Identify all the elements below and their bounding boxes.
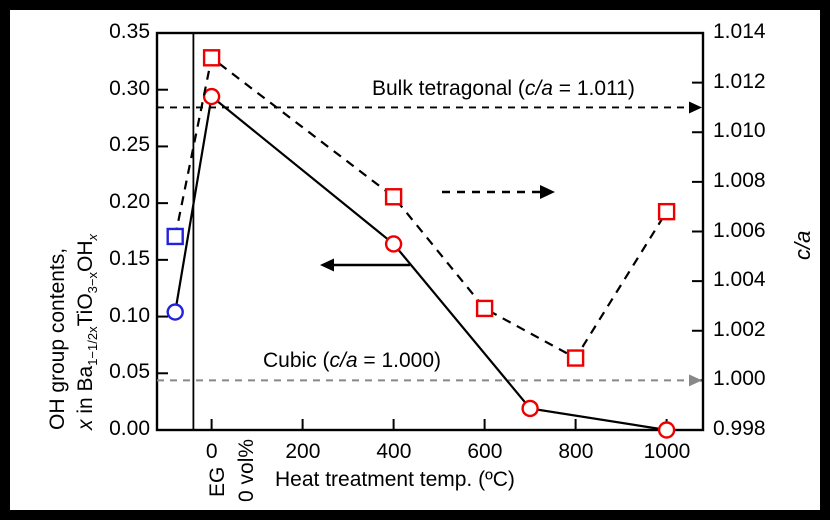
data-point-square — [168, 229, 183, 244]
data-point-circle — [204, 89, 219, 104]
data-point-square — [204, 50, 219, 65]
series-line-ca-ratio — [175, 58, 666, 358]
right-axis-tick-label: 1.000 — [713, 367, 766, 391]
right-axis-tick-label: 1.004 — [713, 268, 766, 292]
bulk-tetragonal-label-prefix: Bulk tetragonal ( — [372, 77, 525, 100]
left-axis-tick-label: 0.10 — [109, 304, 150, 328]
left-axis-tick-label: 0.30 — [109, 77, 150, 101]
data-point-square — [477, 301, 492, 316]
x-axis-tick-label: 600 — [467, 440, 502, 464]
cubic-label-italic: c/a — [330, 349, 358, 372]
y-axis-left-sub2: 3−x — [85, 272, 100, 293]
data-point-square — [568, 351, 583, 366]
x-axis-tick-label: 200 — [285, 440, 320, 464]
data-point-circle — [168, 305, 183, 320]
x-axis-title: Heat treatment temp. (ºC) — [275, 468, 515, 492]
left-axis-pointer-arrow — [320, 259, 334, 272]
reference-lines-layer — [157, 101, 702, 386]
cubic-label-suffix: = 1.000) — [358, 349, 441, 372]
data-point-circle — [523, 401, 538, 416]
right-axis-pointer-arrow — [540, 185, 555, 199]
cubic-label-prefix: Cubic ( — [263, 349, 330, 372]
y-axis-left-formula-in: in Ba — [74, 366, 97, 420]
y-axis-left-formula-x: x — [74, 420, 97, 431]
right-axis-tick-label: 1.014 — [713, 20, 766, 44]
data-series-layer — [168, 50, 674, 437]
y-axis-left-mid: TiO — [74, 293, 97, 326]
y-axis-left-sub3: x — [85, 234, 100, 241]
left-axis-tick-label: 0.35 — [109, 20, 150, 44]
right-axis-tick-label: 1.002 — [713, 318, 766, 342]
cubic-label: Cubic (c/a = 1.000) — [263, 349, 441, 373]
left-axis-tick-label: 0.20 — [109, 190, 150, 214]
chart-stage: 0.000.050.100.150.200.250.300.35 0.9981.… — [10, 10, 820, 510]
left-axis-tick-label: 0.00 — [109, 417, 150, 441]
data-point-square — [659, 204, 674, 219]
x-axis-tick-label: 800 — [558, 440, 593, 464]
reference-arrow-bulk-tetragonal — [689, 101, 702, 113]
bulk-tetragonal-label-italic: c/a — [525, 77, 553, 100]
right-axis-tick-label: 0.998 — [713, 417, 766, 441]
right-axis-tick-label: 1.010 — [713, 119, 766, 143]
y-axis-left-title-formula: x in Ba1−1/2xTiO3−xOHx — [74, 234, 100, 430]
right-axis-tick-label: 1.006 — [713, 219, 766, 243]
bulk-tetragonal-label: Bulk tetragonal (c/a = 1.011) — [372, 77, 635, 101]
y-axis-left-title: OH group contents, — [46, 248, 70, 430]
y-axis-left-title-line1: OH group contents, — [46, 248, 69, 430]
y-axis-left-sub1: 1−1/2x — [85, 326, 100, 365]
data-point-circle — [386, 236, 401, 251]
left-axis-tick-label: 0.05 — [109, 360, 150, 384]
bulk-tetragonal-label-suffix: = 1.011) — [553, 77, 635, 100]
figure-panel: 0.000.050.100.150.200.250.300.35 0.9981.… — [10, 10, 820, 510]
x-axis-tick-label: 400 — [376, 440, 411, 464]
data-point-square — [386, 189, 401, 204]
right-axis-tick-label: 1.012 — [713, 70, 766, 94]
annotations-layer — [320, 185, 555, 272]
reference-arrow-cubic — [689, 374, 702, 386]
x-axis-eg-label-line2: 0 vol% — [235, 439, 259, 502]
x-axis-tick-label: 1000 — [644, 440, 691, 464]
x-axis-tick-label: 0 — [206, 440, 218, 464]
data-point-circle — [659, 423, 674, 438]
y-axis-right-title: c/a — [790, 231, 816, 260]
x-axis-eg-label-line1: EG — [206, 467, 230, 497]
y-axis-left-end: OH — [74, 241, 97, 273]
right-axis-tick-label: 1.008 — [713, 169, 766, 193]
left-axis-tick-label: 0.15 — [109, 247, 150, 271]
left-axis-tick-label: 0.25 — [109, 133, 150, 157]
